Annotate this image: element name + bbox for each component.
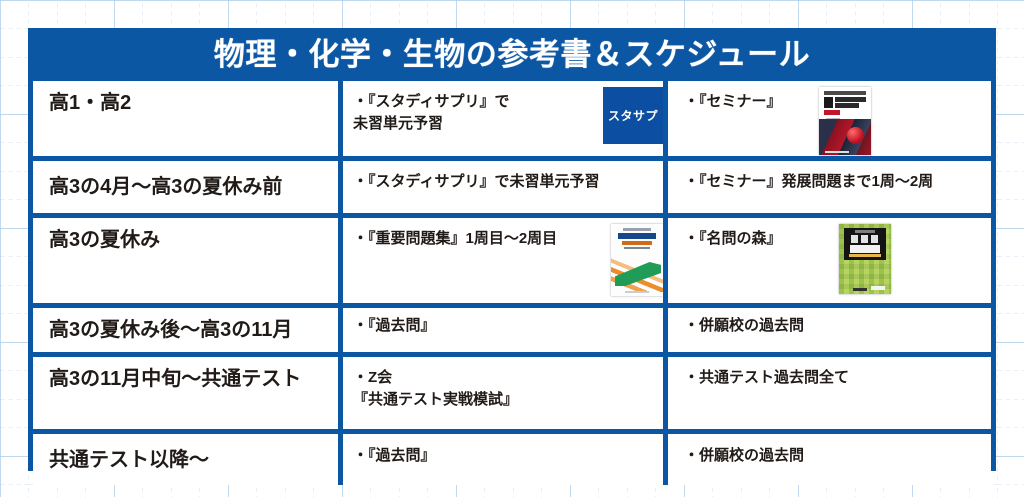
meimon-no-mori-butsuri-book-cover xyxy=(839,224,891,294)
item-label: ・併願校の過去問 xyxy=(668,434,991,467)
item-label: ・併願校の過去問 xyxy=(668,308,991,337)
item-label: ・『過去問』 xyxy=(343,308,663,337)
table-row: 共通テスト以降〜 ・『過去問』 ・併願校の過去問 xyxy=(33,434,991,485)
table-row: 高3の4月〜高3の夏休み前 ・『スタディサプリ』で未習単元予習 ・『セミナー』発… xyxy=(33,161,991,213)
kagaku-juyo-mondaishu-book-cover xyxy=(611,224,663,296)
item-label: ・『名問の森』 xyxy=(668,218,839,250)
period-cell: 高3の4月〜高3の夏休み前 xyxy=(33,161,338,213)
item-label: ・Z会 『共通テスト実戦模試』 xyxy=(343,357,663,411)
item-label: ・『セミナー』 xyxy=(668,81,819,113)
table-row: 高3の夏休み ・『重要問題集』1周目〜2周目 xyxy=(33,218,991,303)
table-row: 高3の11月中旬〜共通テスト ・Z会 『共通テスト実戦模試』 ・共通テスト過去問… xyxy=(33,357,991,429)
period-cell: 高3の夏休み xyxy=(33,218,338,303)
right-cell: ・『セミナー』 xyxy=(668,81,991,156)
period-label: 高3の4月〜高3の夏休み前 xyxy=(33,175,282,199)
period-cell: 共通テスト以降〜 xyxy=(33,434,338,485)
item-label: ・『重要問題集』1周目〜2周目 xyxy=(343,218,611,250)
period-label: 高1・高2 xyxy=(33,81,131,115)
middle-cell: ・『スタディサプリ』で 未習単元予習 スタサプ xyxy=(343,81,663,156)
right-cell: ・共通テスト過去問全て xyxy=(668,357,991,429)
middle-cell: ・『過去問』 xyxy=(343,308,663,352)
table-row: 高1・高2 ・『スタディサプリ』で 未習単元予習 スタサプ ・『セミナー』 xyxy=(33,81,991,156)
period-label: 共通テスト以降〜 xyxy=(33,448,209,472)
middle-cell: ・Z会 『共通テスト実戦模試』 xyxy=(343,357,663,429)
schedule-table-card: 物理・化学・生物の参考書＆スケジュール 高1・高2 ・『スタディサプリ』で 未習… xyxy=(28,28,996,471)
item-label: ・『スタディサプリ』で 未習単元予習 xyxy=(343,81,599,135)
item-label: ・『セミナー』発展問題まで1周〜2周 xyxy=(668,161,991,193)
period-cell: 高1・高2 xyxy=(33,81,338,156)
table-row: 高3の夏休み後〜高3の11月 ・『過去問』 ・併願校の過去問 xyxy=(33,308,991,352)
right-cell: ・『セミナー』発展問題まで1周〜2周 xyxy=(668,161,991,213)
page-title: 物理・化学・生物の参考書＆スケジュール xyxy=(214,39,810,70)
sutasapu-logo: スタサプ xyxy=(603,87,663,144)
right-cell: ・『名問の森』 xyxy=(668,218,991,303)
middle-cell: ・『過去問』 xyxy=(343,434,663,485)
item-label: ・共通テスト過去問全て xyxy=(668,357,991,389)
title-bar: 物理・化学・生物の参考書＆スケジュール xyxy=(28,28,996,81)
item-label: ・『過去問』 xyxy=(343,434,663,467)
sutasapu-logo-text: スタサプ xyxy=(608,107,658,124)
right-cell: ・併願校の過去問 xyxy=(668,434,991,485)
period-label: 高3の夏休み後〜高3の11月 xyxy=(33,318,292,342)
period-label: 高3の11月中旬〜共通テスト xyxy=(33,357,301,391)
period-cell: 高3の11月中旬〜共通テスト xyxy=(33,357,338,429)
period-label: 高3の夏休み xyxy=(33,218,160,252)
item-label: ・『スタディサプリ』で未習単元予習 xyxy=(343,161,663,193)
middle-cell: ・『スタディサプリ』で未習単元予習 xyxy=(343,161,663,213)
schedule-table: 高1・高2 ・『スタディサプリ』で 未習単元予習 スタサプ ・『セミナー』 xyxy=(28,81,996,490)
seminar-kagaku-book-cover xyxy=(819,87,871,155)
middle-cell: ・『重要問題集』1周目〜2周目 xyxy=(343,218,663,303)
right-cell: ・併願校の過去問 xyxy=(668,308,991,352)
period-cell: 高3の夏休み後〜高3の11月 xyxy=(33,308,338,352)
